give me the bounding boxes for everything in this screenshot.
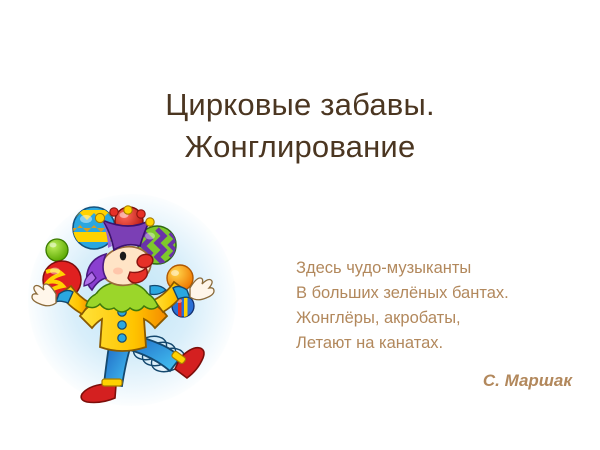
clown-buttons	[118, 308, 126, 342]
presentation-slide: Цирковые забавы. Жонглирование	[0, 0, 600, 450]
poem-block: Здесь чудо-музыканты В больших зелёных б…	[296, 256, 576, 393]
title-line-1: Цирковые забавы.	[0, 84, 600, 126]
poem-line-2: В больших зелёных бантах.	[296, 281, 576, 306]
poem-line-3: Жонглёры, акробаты,	[296, 306, 576, 331]
title-line-2: Жонглирование	[0, 126, 600, 168]
poem-line-1: Здесь чудо-музыканты	[296, 256, 576, 281]
poem-line-4: Летают на канатах.	[296, 331, 576, 356]
slide-title: Цирковые забавы. Жонглирование	[0, 84, 600, 168]
ball-green-small	[46, 239, 68, 261]
poem-attribution: С. Маршак	[296, 368, 576, 393]
juggling-clown-illustration	[22, 188, 242, 408]
